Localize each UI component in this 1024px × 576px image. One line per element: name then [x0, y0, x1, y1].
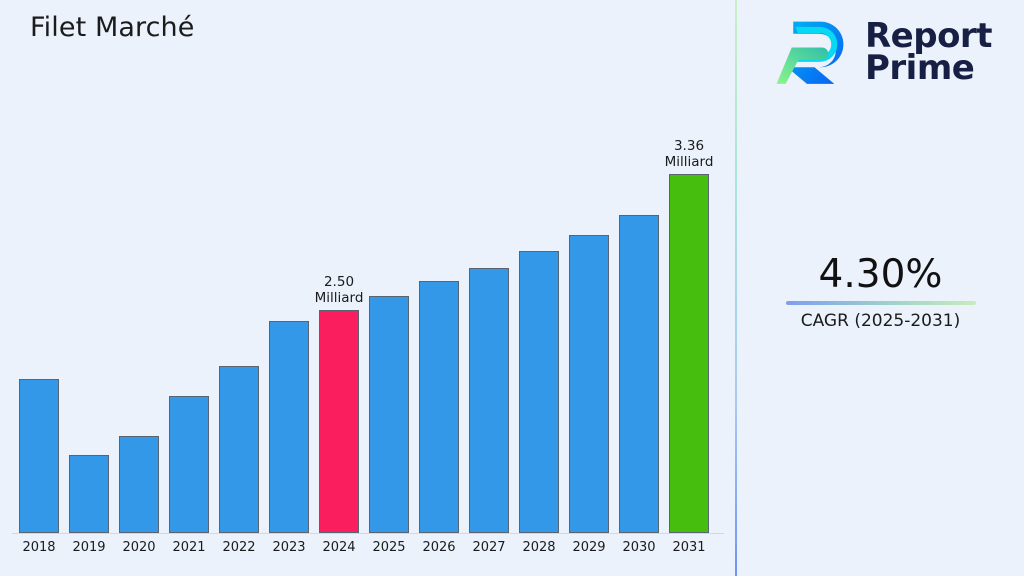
info-panel: Report Prime 4.30% CAGR (2025-2031) [737, 0, 1024, 576]
bar-value-unit: Milliard [639, 154, 739, 170]
bar-2026[interactable] [419, 281, 459, 533]
bar-value-number: 2.50 [324, 274, 354, 290]
report-prime-logo-icon [775, 14, 851, 90]
cagr-divider-rule [786, 301, 976, 305]
bar-2022[interactable] [219, 366, 259, 533]
x-axis-line [12, 533, 724, 534]
bar-2018[interactable] [19, 379, 59, 533]
bar-2028[interactable] [519, 251, 559, 533]
chart-panel: Filet Marché 2018201920202021202220232.5… [0, 0, 736, 576]
bar-value-number: 3.36 [674, 138, 704, 154]
bar-value-label-2031: 3.36Milliard [639, 138, 739, 170]
infographic-root: Filet Marché 2018201920202021202220232.5… [0, 0, 1024, 576]
bar-chart-plot: 2018201920202021202220232.50Milliard2024… [0, 0, 736, 576]
cagr-caption: CAGR (2025-2031) [737, 311, 1024, 331]
bar-2031[interactable] [669, 174, 709, 533]
bar-2023[interactable] [269, 321, 309, 533]
brand-name-line2: Prime [865, 52, 992, 84]
bar-2021[interactable] [169, 396, 209, 533]
bar-2024[interactable] [319, 310, 359, 533]
x-tick-2031: 2031 [659, 540, 719, 555]
bar-2025[interactable] [369, 296, 409, 533]
cagr-value: 4.30% [737, 255, 1024, 296]
cagr-block: 4.30% CAGR (2025-2031) [737, 255, 1024, 331]
brand-name: Report Prime [865, 20, 992, 85]
brand-logo: Report Prime [775, 14, 992, 90]
bar-2030[interactable] [619, 215, 659, 533]
bar-2027[interactable] [469, 268, 509, 533]
bar-2020[interactable] [119, 436, 159, 533]
bar-2029[interactable] [569, 235, 609, 533]
bar-2019[interactable] [69, 455, 109, 533]
